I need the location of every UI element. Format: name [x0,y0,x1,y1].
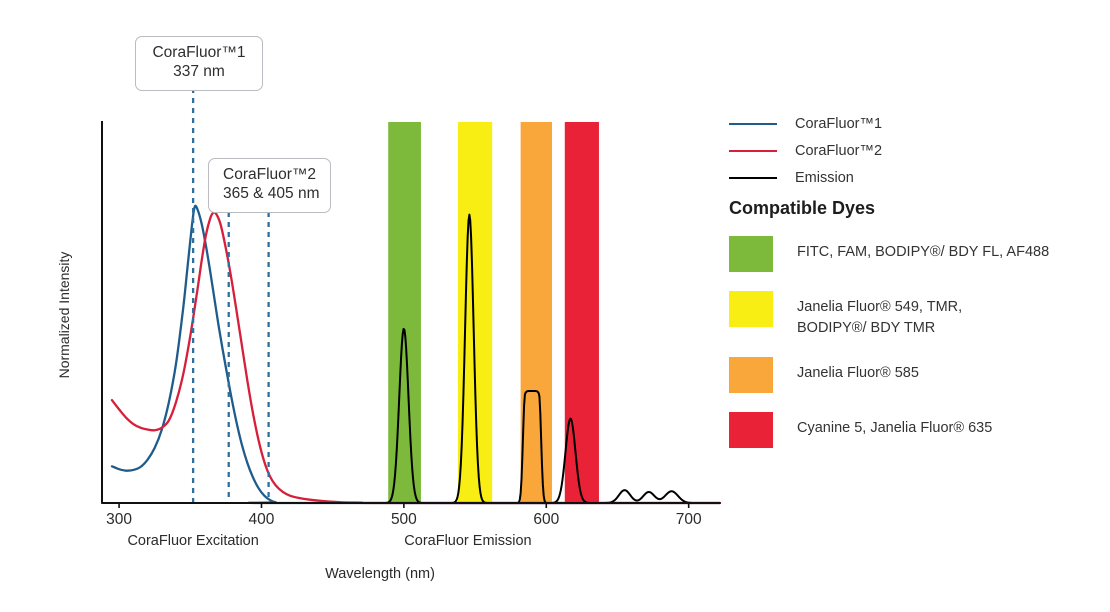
dye-label: Janelia Fluor® 549, TMR, BODIPY®/ BDY TM… [797,291,962,338]
emission-section-label: CoraFluor Emission [368,533,568,549]
legend-label: CoraFluor™2 [795,143,882,159]
compatible-dyes-title: Compatible Dyes [729,198,1104,219]
x-axis-label: Wavelength (nm) [0,566,760,582]
legend-label: CoraFluor™1 [795,116,882,132]
green-band [388,122,421,503]
x-tick-label-300: 300 [89,511,149,529]
callout-corafluor1-value: 337 nm [150,63,248,82]
dye-label: Janelia Fluor® 585 [797,357,919,384]
legend-item-1: CoraFluor™1 [729,110,1099,137]
yellow-band [458,122,492,503]
dye-label: Cyanine 5, Janelia Fluor® 635 [797,412,992,439]
legend-label: Emission [795,170,854,186]
legend: CoraFluor™1CoraFluor™2Emission [729,110,1099,191]
dye-label: FITC, FAM, BODIPY®/ BDY FL, AF488 [797,236,1049,263]
legend-item-2: CoraFluor™2 [729,137,1099,164]
legend-line-swatch [729,123,777,125]
dye-item-2: Janelia Fluor® 549, TMR, BODIPY®/ BDY TM… [729,291,1104,338]
legend-item-3: Emission [729,164,1099,191]
callout-corafluor2-value: 365 & 405 nm [223,185,316,204]
legend-line-swatch [729,150,777,152]
compatible-dyes-list: FITC, FAM, BODIPY®/ BDY FL, AF488Janelia… [729,236,1104,448]
callout-corafluor1-title: CoraFluor™1 [150,44,248,63]
dye-item-1: FITC, FAM, BODIPY®/ BDY FL, AF488 [729,236,1104,272]
y-axis-label: Normalized Intensity [56,225,72,405]
legend-line-swatch [729,177,777,179]
x-tick-label-500: 500 [374,511,434,529]
spectra-figure: CoraFluor™1 337 nm CoraFluor™2 365 & 405… [0,0,1110,612]
callout-corafluor2: CoraFluor™2 365 & 405 nm [208,158,331,213]
dye-color-swatch [729,357,773,393]
orange-band [521,122,552,503]
dye-color-swatch [729,412,773,448]
callout-corafluor1: CoraFluor™1 337 nm [135,36,263,91]
excitation-section-label: CoraFluor Excitation [93,533,293,549]
x-tick-label-600: 600 [516,511,576,529]
callout-corafluor2-title: CoraFluor™2 [223,166,316,185]
dye-item-4: Cyanine 5, Janelia Fluor® 635 [729,412,1104,448]
x-tick-label-700: 700 [659,511,719,529]
dye-color-swatch [729,291,773,327]
dye-color-swatch [729,236,773,272]
x-tick-label-400: 400 [231,511,291,529]
compatible-dyes-panel: Compatible Dyes FITC, FAM, BODIPY®/ BDY … [729,198,1104,467]
red-band [565,122,599,503]
dye-item-3: Janelia Fluor® 585 [729,357,1104,393]
